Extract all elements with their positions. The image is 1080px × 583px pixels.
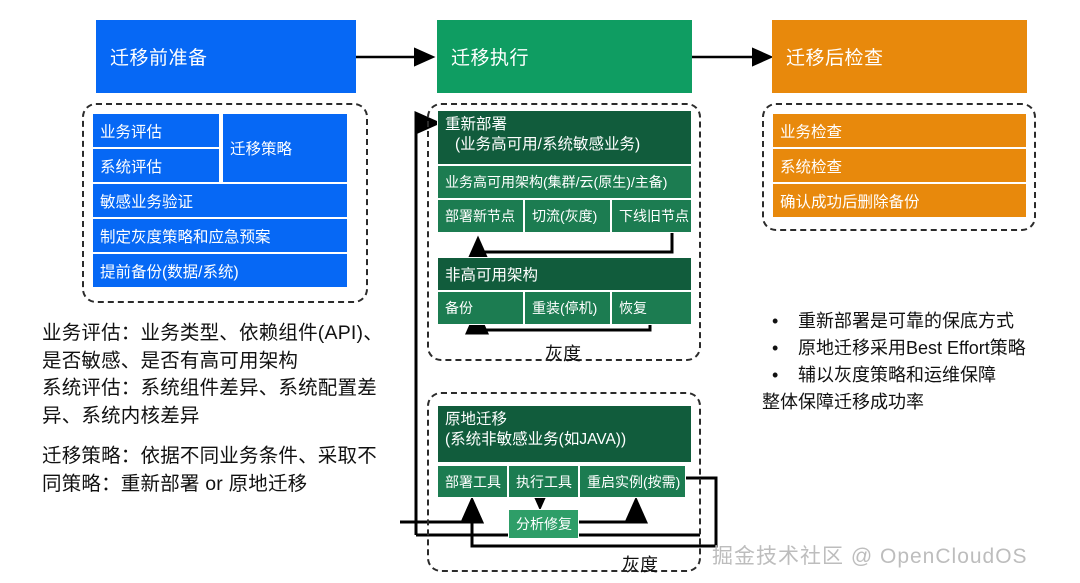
post-item-delete-backup-label: 确认成功后删除备份 (780, 190, 920, 212)
pre-item-system-assessment-label: 系统评估 (100, 155, 162, 177)
pre-item-backup[interactable]: 提前备份(数据/系统) (92, 253, 348, 288)
redeploy-step-deploy-new-node-label: 部署新节点 (445, 206, 515, 226)
redeploy-header-line1: 重新部署 (445, 116, 507, 133)
conclusion-item: • 重新部署是可靠的保底方式 (772, 308, 1072, 335)
diagram-canvas: 迁移前准备 业务评估 系统评估 迁移策略 敏感业务验证 制定灰度策略和应急预案 … (0, 0, 1080, 583)
nonha-header[interactable]: 非高可用架构 (437, 257, 692, 291)
pre-item-business-assessment-label: 业务评估 (100, 120, 162, 142)
redeploy-header-line2: (业务高可用/系统敏感业务) (445, 135, 691, 155)
redeploy-step-offline-old-node[interactable]: 下线旧节点 (611, 199, 692, 233)
pre-item-migration-strategy[interactable]: 迁移策略 (222, 113, 348, 183)
post-item-business-check[interactable]: 业务检查 (772, 113, 1027, 148)
inplace-loop-label: 灰度 (622, 551, 658, 577)
note-strategy-text: 迁移策略：依据不同业务条件、采取不 同策略：重新部署 or 原地迁移 (42, 445, 377, 495)
nonha-header-label: 非高可用架构 (445, 263, 538, 285)
nonha-step-reinstall-label: 重装(停机) (532, 298, 597, 318)
phase-banner-exec-label: 迁移执行 (451, 43, 529, 70)
conclusion-summary-label: 整体保障迁移成功率 (762, 392, 924, 412)
nonha-step-reinstall[interactable]: 重装(停机) (524, 291, 611, 325)
pre-item-backup-label: 提前备份(数据/系统) (100, 260, 239, 282)
inplace-header-line2: (系统非敏感业务(如JAVA)) (445, 430, 691, 450)
redeploy-step-offline-old-node-label: 下线旧节点 (619, 206, 689, 226)
inplace-repair-label: 分析修复 (516, 514, 572, 534)
pre-item-grey-plan[interactable]: 制定灰度策略和应急预案 (92, 218, 348, 253)
conclusion-item-label: 辅以灰度策略和运维保障 (798, 362, 996, 389)
inplace-step-deploy-tool-label: 部署工具 (445, 472, 501, 492)
bullet-icon: • (772, 308, 798, 335)
post-item-system-check[interactable]: 系统检查 (772, 148, 1027, 183)
redeploy-architecture-label: 业务高可用架构(集群/云(原生)/主备) (445, 172, 667, 192)
inplace-step-restart-instance-label: 重启实例(按需) (587, 472, 680, 492)
nonha-step-backup-label: 备份 (445, 298, 473, 318)
nonha-step-restore-label: 恢复 (619, 298, 647, 318)
nonha-loop-label: 灰度 (545, 340, 581, 366)
phase-banner-pre[interactable]: 迁移前准备 (96, 20, 356, 93)
inplace-repair-box[interactable]: 分析修复 (508, 509, 579, 539)
note-assessment-text: 业务评估：业务类型、依赖组件(API)、 是否敏感、是否有高可用架构 系统评估：… (42, 322, 383, 427)
bullet-icon: • (772, 362, 798, 389)
post-item-system-check-label: 系统检查 (780, 155, 842, 177)
post-item-delete-backup[interactable]: 确认成功后删除备份 (772, 183, 1027, 218)
conclusion-summary: 整体保障迁移成功率 (762, 388, 924, 414)
inplace-step-run-tool-label: 执行工具 (516, 472, 572, 492)
pre-item-sensitive-validation[interactable]: 敏感业务验证 (92, 183, 348, 218)
pre-item-system-assessment[interactable]: 系统评估 (92, 148, 220, 183)
inplace-loop-label-text: 灰度 (622, 555, 658, 575)
nonha-step-backup[interactable]: 备份 (437, 291, 524, 325)
watermark-text: 掘金技术社区 @ OpenCloudOS (712, 545, 1028, 568)
note-strategy: 迁移策略：依据不同业务条件、采取不 同策略：重新部署 or 原地迁移 (42, 443, 412, 498)
nonha-loop-label-text: 灰度 (545, 344, 581, 364)
phase-banner-post[interactable]: 迁移后检查 (772, 20, 1027, 93)
conclusion-item: • 辅以灰度策略和运维保障 (772, 362, 1072, 389)
watermark: 掘金技术社区 @ OpenCloudOS (712, 540, 1028, 570)
bullet-icon: • (772, 335, 798, 362)
inplace-header-line1: 原地迁移 (445, 411, 507, 428)
redeploy-step-traffic-switch[interactable]: 切流(灰度) (524, 199, 611, 233)
phase-banner-pre-label: 迁移前准备 (110, 43, 208, 70)
phase-banner-exec[interactable]: 迁移执行 (437, 20, 692, 93)
conclusion-item-label: 原地迁移采用Best Effort策略 (798, 335, 1026, 362)
redeploy-step-traffic-switch-label: 切流(灰度) (532, 206, 597, 226)
pre-item-migration-strategy-label: 迁移策略 (230, 137, 292, 159)
conclusion-item-label: 重新部署是可靠的保底方式 (798, 308, 1014, 335)
inplace-header[interactable]: 原地迁移 (系统非敏感业务(如JAVA)) (437, 405, 692, 463)
conclusion-item: • 原地迁移采用Best Effort策略 (772, 335, 1072, 362)
redeploy-architecture[interactable]: 业务高可用架构(集群/云(原生)/主备) (437, 165, 692, 199)
pre-item-sensitive-validation-label: 敏感业务验证 (100, 190, 193, 212)
pre-item-grey-plan-label: 制定灰度策略和应急预案 (100, 225, 271, 247)
phase-banner-post-label: 迁移后检查 (786, 43, 884, 70)
inplace-step-restart-instance[interactable]: 重启实例(按需) (579, 465, 686, 498)
conclusion-list: • 重新部署是可靠的保底方式 • 原地迁移采用Best Effort策略 • 辅… (772, 308, 1072, 389)
note-assessment: 业务评估：业务类型、依赖组件(API)、 是否敏感、是否有高可用架构 系统评估：… (42, 320, 412, 431)
pre-item-business-assessment[interactable]: 业务评估 (92, 113, 220, 148)
post-item-business-check-label: 业务检查 (780, 120, 842, 142)
nonha-step-restore[interactable]: 恢复 (611, 291, 692, 325)
inplace-step-deploy-tool[interactable]: 部署工具 (437, 465, 508, 498)
redeploy-header[interactable]: 重新部署 (业务高可用/系统敏感业务) (437, 110, 692, 165)
redeploy-step-deploy-new-node[interactable]: 部署新节点 (437, 199, 524, 233)
inplace-step-run-tool[interactable]: 执行工具 (508, 465, 579, 498)
